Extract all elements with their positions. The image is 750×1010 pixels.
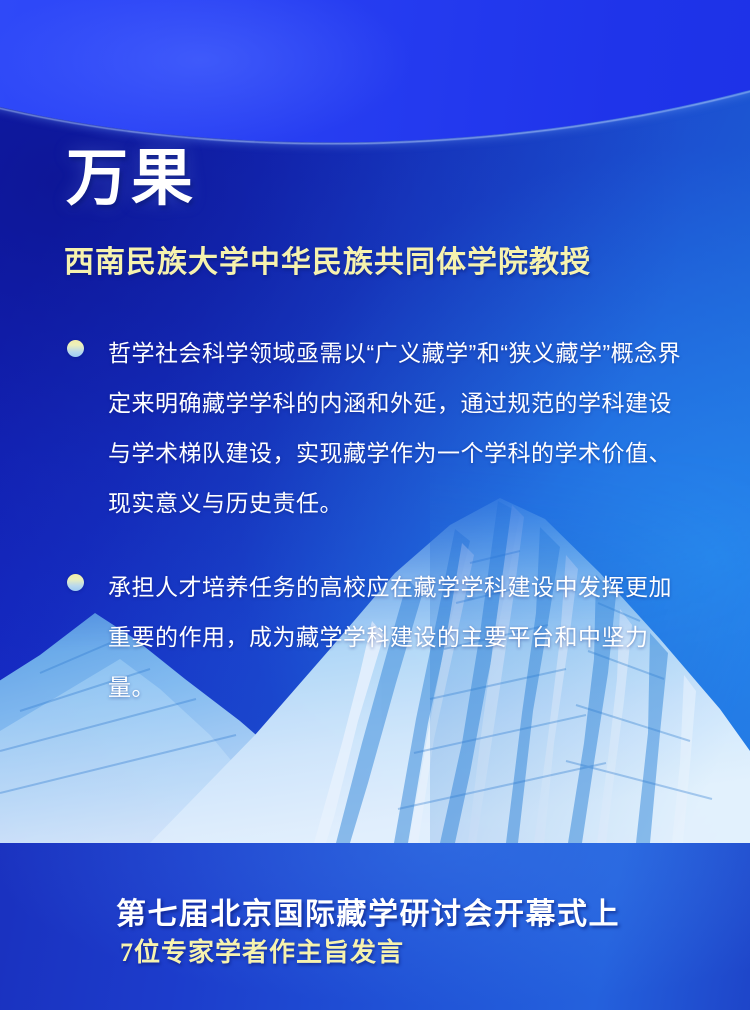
list-item: 承担人才培养任务的高校应在藏学学科建设中发挥更加重要的作用，成为藏学学科建设的主… — [62, 562, 682, 712]
poster-canvas: 万果 西南民族大学中华民族共同体学院教授 哲学社会科学领域亟需以“广义藏学”和“… — [0, 0, 750, 1010]
list-item: 哲学社会科学领域亟需以“广义藏学”和“狭义藏学”概念界定来明确藏学学科的内涵和外… — [62, 328, 682, 528]
footer-sub-title: 7位专家学者作主旨发言 — [120, 932, 404, 969]
bullet-dot-icon — [67, 340, 84, 357]
bullet-text: 承担人才培养任务的高校应在藏学学科建设中发挥更加重要的作用，成为藏学学科建设的主… — [108, 562, 682, 712]
bullet-dot-icon — [67, 574, 84, 591]
footer-main-title: 第七届北京国际藏学研讨会开幕式上 — [116, 889, 620, 933]
speaker-title: 西南民族大学中华民族共同体学院教授 — [64, 237, 591, 281]
quote-list: 哲学社会科学领域亟需以“广义藏学”和“狭义藏学”概念界定来明确藏学学科的内涵和外… — [62, 328, 682, 746]
poster-content: 万果 西南民族大学中华民族共同体学院教授 哲学社会科学领域亟需以“广义藏学”和“… — [0, 0, 750, 1010]
speaker-name: 万果 — [66, 148, 196, 210]
bullet-text: 哲学社会科学领域亟需以“广义藏学”和“狭义藏学”概念界定来明确藏学学科的内涵和外… — [108, 328, 682, 528]
